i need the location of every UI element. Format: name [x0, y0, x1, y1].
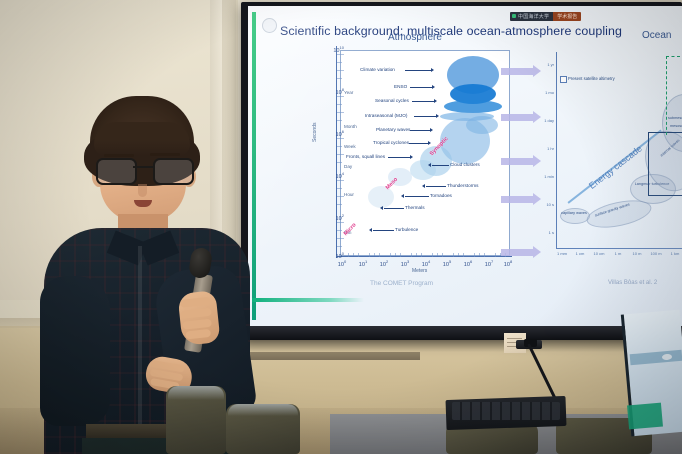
atmosphere-y-tick: 1010	[330, 45, 344, 54]
atmosphere-x-axis-label: Meters	[412, 268, 427, 274]
atmosphere-label: Fronts, squall lines	[346, 154, 385, 159]
atmosphere-y-tick: 106	[330, 129, 344, 138]
atmosphere-x-axis	[336, 256, 512, 257]
presentation-room-photo: Scientific background: multiscale ocean-…	[0, 0, 682, 454]
ocean-annotation: Present satellite altimetry	[568, 76, 615, 81]
ocean-x-axis	[556, 248, 682, 249]
display-screen-bottom-bezel	[241, 326, 682, 340]
presenter-arm-left	[40, 276, 110, 426]
ocean-x-tick: 10 cm	[594, 251, 605, 256]
atmosphere-x-tick: 108	[504, 259, 512, 268]
ocean-chart-credit: Villas Bôas et al. 2	[608, 280, 657, 286]
atmosphere-y-name: Week	[344, 144, 356, 149]
ocean-chart: Ocean 1 yr 1 mo 1 day 1 hr 1 min 10 s 1 …	[546, 34, 682, 290]
ocean-y-axis	[556, 52, 557, 248]
atmosphere-x-tick: 102	[380, 259, 388, 268]
presenter-hand-right	[177, 290, 220, 346]
presenter-shirt-placket	[138, 246, 142, 426]
ocean-feature-label: capillary waves	[560, 211, 588, 215]
laptop-keyboard[interactable]	[452, 402, 560, 420]
atmosphere-x-tick: 100	[338, 259, 346, 268]
slide-bullet-circle-icon	[262, 18, 277, 33]
atmosphere-y-name: Day	[344, 164, 352, 169]
glasses-lens-right	[153, 158, 194, 185]
slide-accent-bar-left	[252, 12, 256, 320]
atmosphere-label: ENSO	[394, 84, 407, 89]
atmosphere-y-axis-label: Seconds	[312, 123, 318, 142]
slide-corner-badge: 中国海洋大学 学术报告	[510, 12, 581, 21]
ocean-y-tick: 1 hr	[532, 146, 554, 151]
ocean-x-tick: 1 m	[615, 251, 622, 256]
ocean-y-tick: 10 s	[532, 202, 554, 207]
atmosphere-y-name: Month	[344, 124, 357, 129]
presenter-nose	[138, 184, 147, 197]
slide-accent-bar-bottom	[252, 298, 364, 302]
atmosphere-y-tick: 108	[330, 87, 344, 96]
atmosphere-y-tick: 104	[330, 171, 344, 180]
atmosphere-x-tick: 101	[359, 259, 367, 268]
ocean-chart-title: Ocean	[642, 30, 671, 41]
atmosphere-x-tick: 107	[485, 259, 493, 268]
atmosphere-label: Thermals	[405, 205, 425, 210]
wall-shelf	[240, 352, 420, 360]
ocean-x-tick: 10 m	[633, 251, 642, 256]
ocean-x-tick: 1 cm	[576, 251, 585, 256]
monitor-slide-accent	[627, 403, 663, 430]
ocean-x-tick: 1 mm	[557, 251, 567, 256]
ocean-x-tick: 100 m	[650, 251, 661, 256]
atmosphere-label: Tornadoes	[430, 193, 452, 198]
atmosphere-label: Turbulence	[395, 227, 418, 232]
atmosphere-x-tick: 105	[443, 259, 451, 268]
atmosphere-label: Climate variation	[360, 67, 395, 72]
display-screen[interactable]: Scientific background: multiscale ocean-…	[248, 6, 682, 326]
ocean-y-tick: 1 mo	[532, 90, 554, 95]
atmosphere-x-tick: 104	[422, 259, 430, 268]
atmosphere-label: Tropical cyclones	[373, 140, 409, 145]
ocean-highlight-box	[648, 132, 682, 196]
ocean-y-tick: 1 day	[532, 118, 554, 123]
slide-canvas: Scientific background: multiscale ocean-…	[248, 6, 682, 326]
display-screen-shadow	[241, 340, 682, 352]
atmosphere-x-tick: 106	[464, 259, 472, 268]
atmosphere-chart-credit: The COMET Program	[370, 280, 433, 287]
atmosphere-x-tick: 103	[401, 259, 409, 268]
atmosphere-label: Cloud clusters	[450, 162, 480, 167]
ocean-y-tick: 1 yr	[532, 62, 554, 67]
atmosphere-label: Planetary waves	[376, 127, 410, 132]
satellite-altimetry-marker-icon	[560, 76, 567, 83]
atmosphere-chart-title: Atmosphere	[388, 32, 442, 43]
chair-highlight	[168, 386, 224, 400]
badge-event-label: 学术报告	[553, 12, 581, 21]
presenter-fringe	[94, 122, 190, 156]
atmosphere-label: Seasonal cycles	[375, 98, 409, 103]
badge-institution-label: 中国海洋大学	[510, 12, 553, 21]
atmosphere-blob	[410, 160, 436, 180]
atmosphere-blob	[444, 100, 502, 113]
ocean-y-tick: 1 min	[532, 174, 554, 179]
atmosphere-label: Thunderstorms	[447, 183, 479, 188]
chair-highlight	[228, 404, 298, 416]
glasses-lens-left	[96, 158, 137, 185]
atmosphere-label: Intraseasonal (MJO)	[365, 113, 407, 118]
atmosphere-y-name: Hour	[344, 192, 354, 197]
ocean-x-tick: 1 km	[671, 251, 680, 256]
atmosphere-y-tick: 102	[330, 213, 344, 222]
ocean-y-tick: 1 s	[532, 230, 554, 235]
atmosphere-y-name: Year	[344, 90, 353, 95]
glasses-bridge	[133, 166, 153, 168]
atmosphere-chart: Atmosphere 1010 108 106 104 102 100 Year…	[292, 34, 528, 290]
presenter-glasses	[96, 158, 190, 182]
